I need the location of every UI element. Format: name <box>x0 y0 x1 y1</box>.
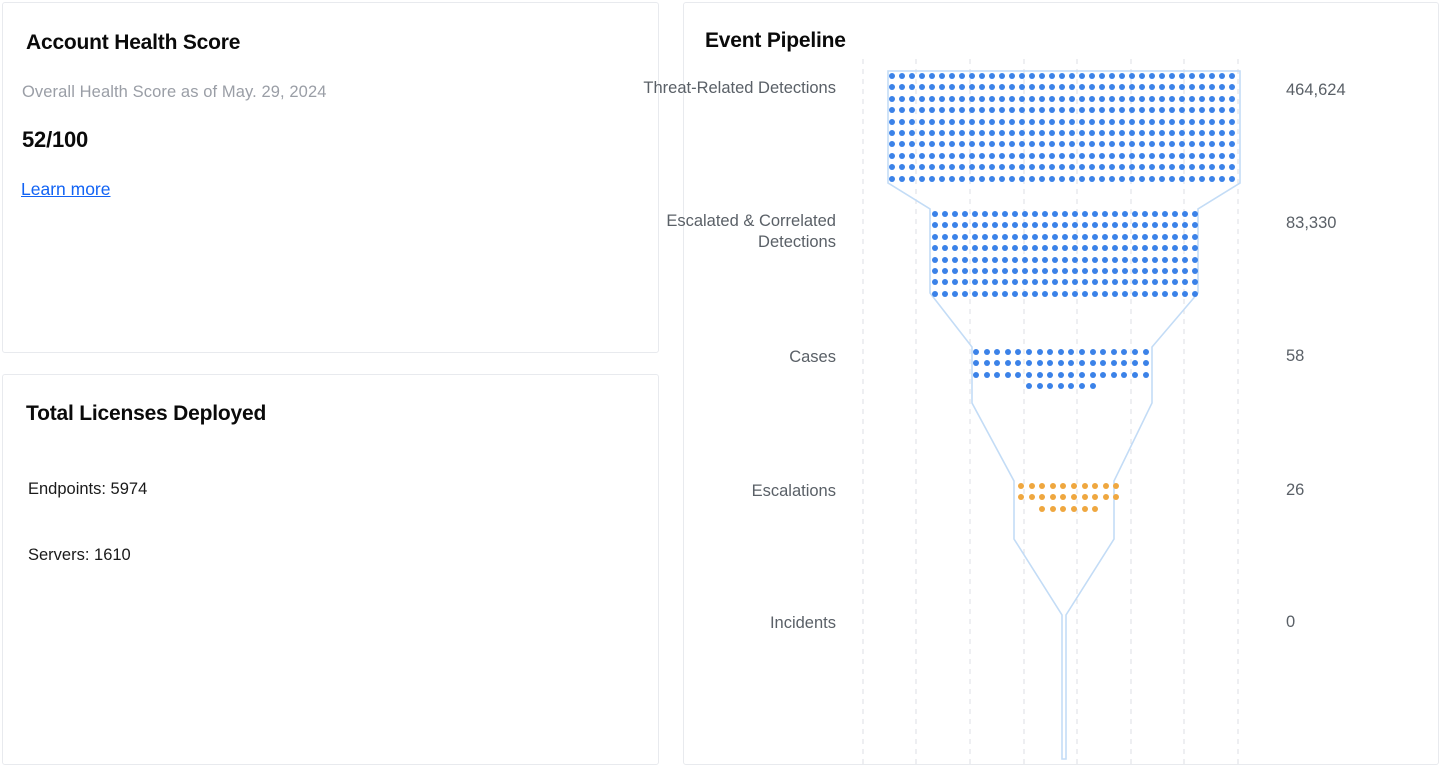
dot <box>1079 153 1085 159</box>
dot <box>1012 268 1018 274</box>
dot <box>942 211 948 217</box>
dot <box>1189 130 1195 136</box>
dot <box>1062 291 1068 297</box>
dot <box>1026 372 1032 378</box>
event-pipeline-card: Event Pipeline Threat-Related Detections… <box>683 2 1439 765</box>
dot <box>942 257 948 263</box>
dot <box>1149 130 1155 136</box>
dot <box>952 268 958 274</box>
dot <box>1037 383 1043 389</box>
dot <box>932 234 938 240</box>
dot <box>1199 153 1205 159</box>
dot <box>1102 234 1108 240</box>
dot <box>1142 257 1148 263</box>
dot <box>972 234 978 240</box>
dot <box>1189 176 1195 182</box>
dot <box>1152 211 1158 217</box>
dot <box>919 176 925 182</box>
dot <box>1109 176 1115 182</box>
dot <box>1143 372 1149 378</box>
dot <box>1102 211 1108 217</box>
dot <box>1079 130 1085 136</box>
dot <box>1069 176 1075 182</box>
dot <box>1089 119 1095 125</box>
dot <box>1169 176 1175 182</box>
dot <box>1039 153 1045 159</box>
dot <box>1089 96 1095 102</box>
dot <box>1149 119 1155 125</box>
dot <box>1029 176 1035 182</box>
dot <box>984 349 990 355</box>
dot <box>1102 291 1108 297</box>
dot <box>889 130 895 136</box>
dot <box>982 291 988 297</box>
dot <box>1089 73 1095 79</box>
dot <box>1089 130 1095 136</box>
dot <box>1069 73 1075 79</box>
dot <box>1162 234 1168 240</box>
dot <box>1179 130 1185 136</box>
dot <box>1062 211 1068 217</box>
dot <box>973 349 979 355</box>
dot <box>1102 268 1108 274</box>
dot <box>1229 119 1235 125</box>
dot <box>1169 130 1175 136</box>
dot <box>909 96 915 102</box>
dot <box>1052 291 1058 297</box>
dot <box>1159 119 1165 125</box>
dot <box>1209 119 1215 125</box>
dot <box>1229 96 1235 102</box>
dot <box>1009 153 1015 159</box>
dot <box>982 211 988 217</box>
dot <box>982 234 988 240</box>
dot <box>1012 211 1018 217</box>
stage-label-2: Cases <box>636 347 836 368</box>
dot <box>1099 153 1105 159</box>
dot <box>1058 349 1064 355</box>
dot <box>1032 234 1038 240</box>
dot <box>1172 211 1178 217</box>
dashboard-root: Account Health Score Overall Health Scor… <box>0 0 1441 767</box>
dot <box>1082 211 1088 217</box>
dot <box>1182 257 1188 263</box>
dot <box>1109 73 1115 79</box>
dot <box>1179 96 1185 102</box>
dot <box>1149 153 1155 159</box>
dot <box>1009 176 1015 182</box>
dot <box>1192 234 1198 240</box>
dot <box>1099 130 1105 136</box>
dot <box>999 73 1005 79</box>
dot <box>1159 96 1165 102</box>
dot <box>889 176 895 182</box>
dot <box>1009 119 1015 125</box>
dot <box>1162 291 1168 297</box>
dot <box>1090 372 1096 378</box>
dot <box>1172 234 1178 240</box>
dot <box>1019 96 1025 102</box>
dot <box>949 153 955 159</box>
funnel-shape <box>888 71 1240 759</box>
dot <box>1229 153 1235 159</box>
dot <box>999 130 1005 136</box>
dot <box>984 372 990 378</box>
dot <box>1069 119 1075 125</box>
dot <box>1159 153 1165 159</box>
health-score-value: 52/100 <box>22 127 88 153</box>
dot <box>932 268 938 274</box>
dot <box>1192 211 1198 217</box>
dot <box>909 153 915 159</box>
dot <box>929 119 935 125</box>
dot <box>1179 176 1185 182</box>
dot <box>1182 234 1188 240</box>
dot <box>1002 291 1008 297</box>
dot <box>1129 176 1135 182</box>
dot <box>992 234 998 240</box>
dot <box>1002 257 1008 263</box>
dot <box>1112 291 1118 297</box>
dot <box>1159 176 1165 182</box>
stage-label-1: Escalated & Correlated Detections <box>636 211 836 253</box>
dot <box>1029 73 1035 79</box>
dot <box>1179 119 1185 125</box>
dot <box>1039 96 1045 102</box>
dot <box>1062 234 1068 240</box>
dot <box>959 130 965 136</box>
dot <box>992 211 998 217</box>
dot <box>1169 96 1175 102</box>
dot <box>1179 153 1185 159</box>
dot <box>1072 257 1078 263</box>
dot <box>1189 73 1195 79</box>
dot <box>889 73 895 79</box>
stage-value-4: 0 <box>1286 613 1295 632</box>
dot <box>1012 234 1018 240</box>
dot <box>1079 119 1085 125</box>
dot <box>1192 257 1198 263</box>
dot <box>1092 211 1098 217</box>
dot <box>1179 73 1185 79</box>
dot <box>1079 73 1085 79</box>
dot <box>1149 73 1155 79</box>
dot <box>909 119 915 125</box>
total-licenses-deployed-card: Total Licenses Deployed Endpoints: 5974 … <box>2 374 659 765</box>
dot <box>1129 119 1135 125</box>
dot <box>1152 234 1158 240</box>
dot <box>1129 96 1135 102</box>
dot <box>952 211 958 217</box>
dot <box>1132 349 1138 355</box>
dot <box>899 130 905 136</box>
dot <box>1142 234 1148 240</box>
dot <box>1047 372 1053 378</box>
dot <box>1132 291 1138 297</box>
dot <box>1189 96 1195 102</box>
dot <box>939 96 945 102</box>
dot <box>1042 257 1048 263</box>
dot <box>1199 73 1205 79</box>
dot <box>969 73 975 79</box>
dot <box>1042 234 1048 240</box>
dot <box>959 153 965 159</box>
dot <box>942 268 948 274</box>
dot <box>889 153 895 159</box>
dot <box>1162 211 1168 217</box>
dot <box>1058 383 1064 389</box>
dot <box>969 119 975 125</box>
dot <box>994 372 1000 378</box>
dot <box>1119 119 1125 125</box>
dot <box>1002 211 1008 217</box>
dot <box>1159 73 1165 79</box>
dot <box>1022 234 1028 240</box>
dot <box>1111 372 1117 378</box>
dot <box>899 153 905 159</box>
stage-value-1: 83,330 <box>1286 214 1336 233</box>
dot <box>952 291 958 297</box>
dot <box>1022 291 1028 297</box>
dot <box>1229 130 1235 136</box>
dot <box>1149 96 1155 102</box>
dot <box>1209 153 1215 159</box>
dot <box>989 153 995 159</box>
dot <box>1229 73 1235 79</box>
dot <box>1219 130 1225 136</box>
dot <box>1012 257 1018 263</box>
dot <box>919 73 925 79</box>
dot <box>1049 73 1055 79</box>
dot <box>1122 257 1128 263</box>
dot <box>1182 268 1188 274</box>
dot <box>1199 176 1205 182</box>
dot <box>889 96 895 102</box>
dot <box>1139 73 1145 79</box>
dot <box>919 153 925 159</box>
dot <box>1029 483 1035 489</box>
dot <box>1039 176 1045 182</box>
dot <box>1029 96 1035 102</box>
dot <box>1209 176 1215 182</box>
dot <box>1082 257 1088 263</box>
dot <box>1219 96 1225 102</box>
dot <box>1019 176 1025 182</box>
dot <box>1182 211 1188 217</box>
dot <box>1089 153 1095 159</box>
dot <box>1129 153 1135 159</box>
dot <box>1032 257 1038 263</box>
dot <box>1072 211 1078 217</box>
learn-more-link[interactable]: Learn more <box>21 179 111 200</box>
dot <box>909 130 915 136</box>
dot <box>1039 73 1045 79</box>
dot <box>1059 119 1065 125</box>
dot <box>1139 130 1145 136</box>
dot <box>1079 372 1085 378</box>
dot <box>1029 130 1035 136</box>
dot <box>1119 130 1125 136</box>
dot <box>1039 506 1045 512</box>
dot <box>952 257 958 263</box>
dot <box>932 211 938 217</box>
dot <box>1018 483 1024 489</box>
dot <box>1122 268 1128 274</box>
dot <box>1012 291 1018 297</box>
dot <box>989 73 995 79</box>
dot <box>899 176 905 182</box>
dot <box>932 291 938 297</box>
dot <box>1209 96 1215 102</box>
dot <box>999 176 1005 182</box>
dot <box>1022 257 1028 263</box>
dot <box>972 291 978 297</box>
dot <box>1022 268 1028 274</box>
dot <box>1099 176 1105 182</box>
dot <box>1192 268 1198 274</box>
dot <box>1009 96 1015 102</box>
dot <box>1199 130 1205 136</box>
dot <box>1172 291 1178 297</box>
dot <box>949 119 955 125</box>
dot <box>979 153 985 159</box>
dot <box>1052 268 1058 274</box>
dot <box>919 96 925 102</box>
dot <box>1032 291 1038 297</box>
dot <box>1058 372 1064 378</box>
dot <box>999 153 1005 159</box>
dot <box>972 257 978 263</box>
dot <box>1122 234 1128 240</box>
dot <box>1132 268 1138 274</box>
dot <box>949 96 955 102</box>
dot <box>1005 372 1011 378</box>
dot <box>1112 234 1118 240</box>
dot <box>1059 130 1065 136</box>
dot <box>1099 119 1105 125</box>
dot <box>939 153 945 159</box>
dot <box>959 96 965 102</box>
dot <box>1050 506 1056 512</box>
dot <box>889 119 895 125</box>
dot <box>1002 234 1008 240</box>
dot <box>1090 383 1096 389</box>
dot <box>1219 153 1225 159</box>
dot <box>1071 483 1077 489</box>
dot <box>1039 130 1045 136</box>
dot <box>1169 119 1175 125</box>
dot <box>1059 153 1065 159</box>
dot <box>979 96 985 102</box>
dot <box>989 96 995 102</box>
dot <box>1139 119 1145 125</box>
dot <box>952 234 958 240</box>
dot <box>919 119 925 125</box>
dot <box>919 130 925 136</box>
dot <box>929 153 935 159</box>
dot <box>1199 119 1205 125</box>
dot <box>982 257 988 263</box>
dot <box>1019 130 1025 136</box>
dot <box>929 176 935 182</box>
dot <box>979 73 985 79</box>
dot <box>1022 211 1028 217</box>
dot <box>959 73 965 79</box>
dot <box>1050 483 1056 489</box>
dot <box>909 176 915 182</box>
dot <box>1059 96 1065 102</box>
dot <box>959 176 965 182</box>
dot <box>959 119 965 125</box>
dot <box>1071 506 1077 512</box>
dot <box>962 291 968 297</box>
dot <box>1049 176 1055 182</box>
dot <box>1182 291 1188 297</box>
dot <box>962 268 968 274</box>
dot <box>1112 257 1118 263</box>
dot <box>949 73 955 79</box>
account-health-score-card: Account Health Score Overall Health Scor… <box>2 2 659 353</box>
dot <box>1172 257 1178 263</box>
dot <box>1072 291 1078 297</box>
dot <box>1192 291 1198 297</box>
dot <box>1029 119 1035 125</box>
dot <box>1052 211 1058 217</box>
dot <box>1042 291 1048 297</box>
dot <box>979 119 985 125</box>
dot <box>1049 119 1055 125</box>
dot <box>1069 153 1075 159</box>
dot <box>1169 153 1175 159</box>
dot <box>1109 119 1115 125</box>
dot <box>1092 291 1098 297</box>
dot <box>1026 349 1032 355</box>
dot <box>1132 257 1138 263</box>
dot <box>1143 349 1149 355</box>
dot <box>1109 153 1115 159</box>
dot <box>979 176 985 182</box>
dot <box>1122 211 1128 217</box>
dot <box>1209 73 1215 79</box>
dot <box>929 73 935 79</box>
dot <box>1082 268 1088 274</box>
dot <box>1079 96 1085 102</box>
dot <box>989 176 995 182</box>
dot <box>1079 349 1085 355</box>
dot <box>1037 349 1043 355</box>
dot <box>999 96 1005 102</box>
dot <box>1062 268 1068 274</box>
dot <box>1109 96 1115 102</box>
dot <box>989 130 995 136</box>
dot <box>982 268 988 274</box>
dot <box>1092 234 1098 240</box>
dot <box>899 73 905 79</box>
dot <box>1049 153 1055 159</box>
dot <box>973 372 979 378</box>
dot <box>1119 73 1125 79</box>
dot <box>1142 291 1148 297</box>
page-title-total-licenses: Total Licenses Deployed <box>26 402 266 426</box>
page-title-event-pipeline: Event Pipeline <box>705 29 846 53</box>
dot <box>969 153 975 159</box>
dot <box>1199 96 1205 102</box>
dot <box>1152 268 1158 274</box>
dot <box>939 73 945 79</box>
dot <box>1042 268 1048 274</box>
dot <box>1069 130 1075 136</box>
dot <box>1169 73 1175 79</box>
